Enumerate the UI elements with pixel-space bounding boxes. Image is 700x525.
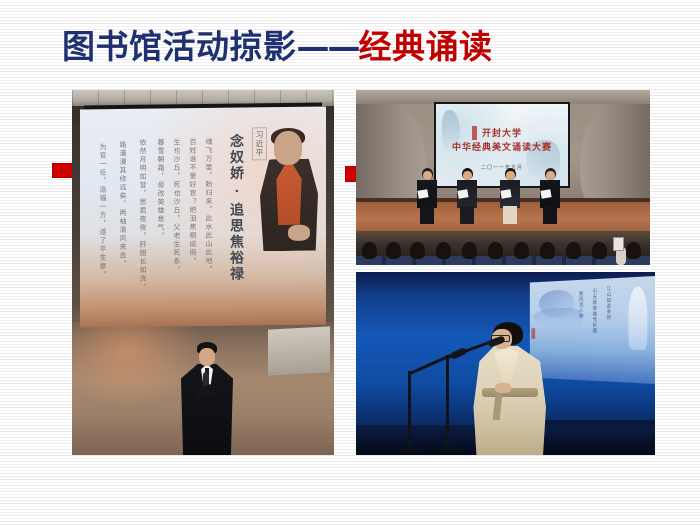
audience-head bbox=[566, 242, 581, 259]
phone-camera-icon bbox=[613, 237, 624, 251]
audience-head bbox=[540, 242, 555, 259]
title-text-red: 经典诵读 bbox=[359, 27, 493, 66]
photo-topright-content: 开封大学 中华经典美文诵读大赛 二〇一一年五月 bbox=[356, 90, 650, 265]
screen-poem-column: 暮雪朝霜，毋改英雄意气。 bbox=[156, 138, 166, 240]
photo-left-content: 习近平 念奴娇 · 追思焦裕禄 魂飞万里，盼归来，此水此山此地。 百姓谁不爱好官… bbox=[72, 90, 334, 455]
host-face bbox=[546, 171, 555, 180]
screen-poem-column: 生也沙丘，死也沙丘，父老生死系。 bbox=[172, 138, 182, 274]
photo-hanfu-reciter: 江山如此多娇 引无数英雄竞折腰 数风流人物 bbox=[356, 272, 655, 455]
host-script-card bbox=[500, 189, 511, 199]
host-person bbox=[416, 168, 438, 224]
host-person bbox=[456, 168, 478, 224]
screen-poem-column: 为官一任，造福一方，遂了平生意。 bbox=[98, 143, 108, 279]
photo-botright-content: 江山如此多娇 引无数英雄竞折腰 数风流人物 bbox=[356, 272, 655, 455]
presentation-slide: 图书馆活动掠影——经典诵读 习近平 念奴娇 · 追思焦裕禄 魂飞万里，盼归来，此… bbox=[0, 0, 700, 525]
podium bbox=[268, 326, 330, 375]
contest-screen-line2: 中华经典美文诵读大赛 bbox=[436, 140, 568, 153]
host-legs bbox=[543, 206, 557, 224]
audience-head bbox=[488, 242, 503, 259]
backdrop-text-column: 江山如此多娇 bbox=[606, 286, 612, 321]
mic-base bbox=[400, 448, 422, 451]
contest-screen-line1: 开封大学 bbox=[436, 126, 568, 139]
audience-head bbox=[626, 242, 641, 259]
speaker-face bbox=[199, 348, 215, 366]
host-legs bbox=[420, 206, 434, 224]
reciter-hands bbox=[495, 383, 511, 393]
audience-head bbox=[362, 242, 377, 259]
projection-screen: 习近平 念奴娇 · 追思焦裕禄 魂飞万里，盼归来，此水此山此地。 百姓谁不爱好官… bbox=[80, 106, 326, 327]
host-face bbox=[463, 171, 472, 180]
screen-poem-column: 依然月明如昔，思君夜夜，肝胆长如洗。 bbox=[138, 139, 148, 292]
screen-poem-column: 路漫漫其修远矣，两袖清风来去。 bbox=[118, 141, 128, 269]
screen-poem-column: 魂飞万里，盼归来，此水此山此地。 bbox=[204, 138, 214, 274]
host-legs bbox=[503, 206, 517, 224]
audience-head bbox=[410, 242, 425, 259]
title-dash: —— bbox=[297, 27, 359, 66]
audience-head bbox=[436, 242, 451, 259]
portrait-head bbox=[274, 131, 302, 165]
audience-seats bbox=[356, 256, 650, 265]
audience-head bbox=[592, 242, 607, 259]
backdrop-figure-illustration bbox=[628, 286, 647, 350]
mic-base bbox=[438, 448, 460, 451]
host-face bbox=[423, 171, 432, 180]
photo-lecture-recital: 习近平 念奴娇 · 追思焦裕禄 魂飞万里，盼归来，此水此山此地。 百姓谁不爱好官… bbox=[72, 90, 334, 455]
portrait-hand bbox=[288, 225, 310, 241]
mic-pole bbox=[408, 371, 411, 449]
page-title: 图书馆活动掠影——经典诵读 bbox=[62, 30, 493, 63]
host-script-card bbox=[540, 189, 551, 199]
backdrop-screen: 江山如此多娇 引无数英雄竞折腰 数风流人物 bbox=[530, 276, 655, 384]
mic-pole bbox=[446, 355, 449, 449]
host-face bbox=[506, 171, 515, 180]
backdrop-text-column: 数风流人物 bbox=[578, 291, 584, 319]
backdrop-text-column: 引无数英雄竞折腰 bbox=[592, 288, 598, 333]
host-script-card bbox=[417, 189, 428, 199]
screen-poem-headline: 念奴娇 · 追思焦裕禄 bbox=[226, 133, 246, 282]
speaker-person bbox=[176, 342, 238, 455]
audience-head bbox=[462, 242, 477, 259]
title-text-blue: 图书馆活动掠影 bbox=[62, 27, 297, 66]
host-person bbox=[499, 168, 521, 224]
audience-head bbox=[386, 242, 401, 259]
host-script-card bbox=[457, 189, 468, 199]
host-legs bbox=[460, 206, 474, 224]
screen-portrait-illustration bbox=[258, 131, 320, 252]
photo-contest-hosts: 开封大学 中华经典美文诵读大赛 二〇一一年五月 bbox=[356, 90, 650, 265]
host-person bbox=[539, 168, 561, 224]
audience-head bbox=[514, 242, 529, 259]
screen-poem-column: 百姓谁不爱好官？把泪焦桐成雨。 bbox=[188, 138, 198, 266]
audience-section bbox=[356, 231, 650, 265]
